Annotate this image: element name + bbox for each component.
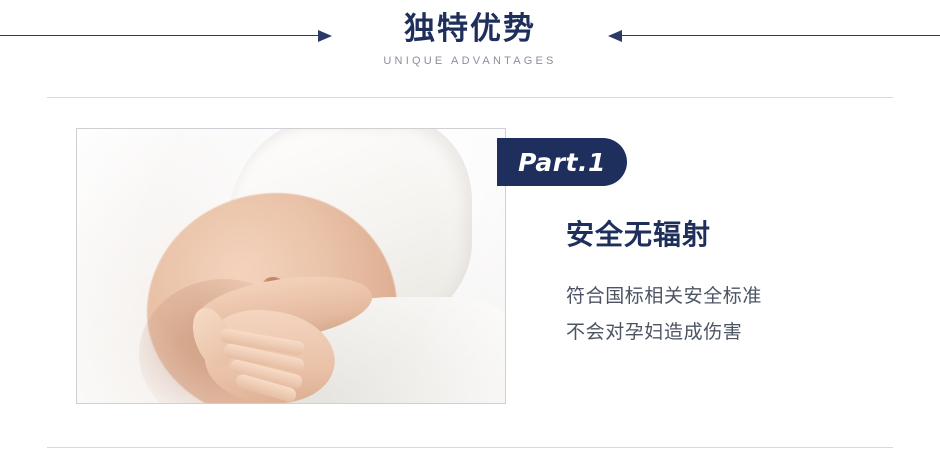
divider-top (47, 97, 893, 98)
page-subtitle: UNIQUE ADVANTAGES (0, 54, 940, 68)
header-title-block: 独特优势 UNIQUE ADVANTAGES (0, 10, 940, 68)
advantage-section: 独特优势 UNIQUE ADVANTAGES Part.1 安全无辐射 符合国标… (0, 0, 940, 461)
part-badge: Part.1 (497, 138, 627, 186)
feature-description-line: 不会对孕妇造成伤害 (566, 314, 762, 350)
feature-headline: 安全无辐射 (566, 218, 711, 252)
part-badge-label: Part.1 (518, 148, 606, 177)
product-photo (76, 128, 506, 404)
section-header: 独特优势 UNIQUE ADVANTAGES (0, 0, 940, 96)
feature-description-line: 符合国标相关安全标准 (566, 278, 762, 314)
divider-bottom (47, 447, 893, 448)
page-title: 独特优势 (0, 10, 940, 48)
feature-description: 符合国标相关安全标准 不会对孕妇造成伤害 (566, 278, 762, 350)
photo-background (77, 129, 505, 403)
